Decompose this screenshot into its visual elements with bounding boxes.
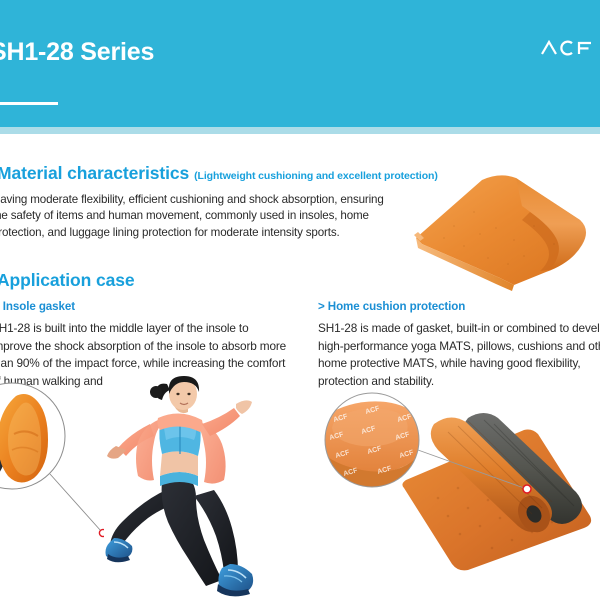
- home-cushion-body-text: SH1-28 is made of gasket, built-in or co…: [318, 320, 600, 390]
- material-heading-text: Material characteristics: [0, 163, 189, 183]
- runner-photo: [104, 372, 304, 600]
- yoga-mat-image: ACF ACF ACF ACF ACF ACF ACF ACF ACF ACF …: [308, 388, 600, 578]
- title-underline: [0, 102, 58, 105]
- material-heading-note: (Lightweight cushioning and excellent pr…: [189, 170, 438, 182]
- acf-logo-icon: [540, 40, 592, 56]
- page-title: SH1-28 Series: [0, 38, 154, 67]
- product-datasheet-page: SH1-28 Series Material characteristics(L…: [0, 0, 600, 600]
- header-accent-strip: [0, 127, 600, 134]
- subheading-home-cushion: > Home cushion protection: [318, 300, 465, 313]
- section-heading-material: Material characteristics(Lightweight cus…: [0, 163, 438, 184]
- subheading-insole-gasket: > Insole gasket: [0, 300, 75, 313]
- material-body-text: Having moderate flexibility, efficient c…: [0, 192, 392, 241]
- page-header: SH1-28 Series: [0, 0, 600, 127]
- foam-sheet-image: [404, 168, 600, 296]
- section-heading-application: Application case: [0, 270, 134, 291]
